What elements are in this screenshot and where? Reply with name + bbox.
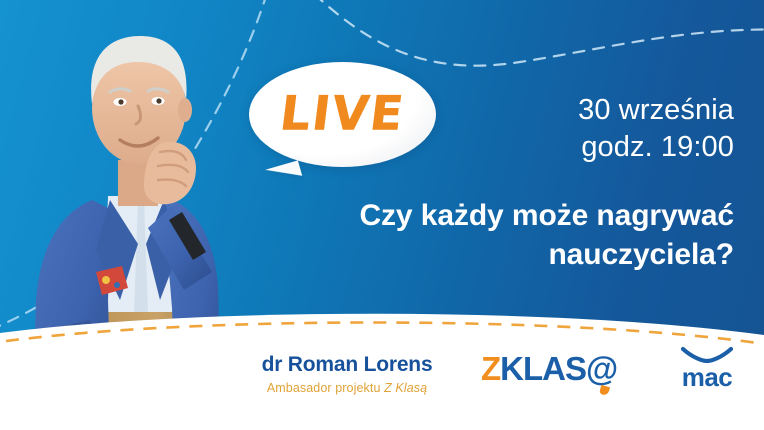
speaker-credit: dr Roman Lorens Ambasador projektu Z Kla… bbox=[232, 353, 462, 395]
pocket-square-dot bbox=[102, 276, 110, 284]
live-webinar-banner: LIVE bbox=[0, 0, 764, 430]
presenter-watch bbox=[169, 212, 206, 260]
presenter-lapel-right bbox=[146, 200, 180, 300]
presenter-forearm bbox=[148, 206, 212, 290]
presenter-pocket-square bbox=[96, 266, 128, 295]
mac-logo-text: mac bbox=[676, 364, 738, 390]
speaker-name: dr Roman Lorens bbox=[232, 353, 462, 377]
event-time: godz. 19:00 bbox=[404, 129, 734, 166]
dashed-wave-top bbox=[300, 0, 764, 66]
zklasa-logo[interactable]: ZKLAS@ bbox=[481, 350, 617, 388]
presenter-ear bbox=[178, 98, 192, 122]
speaker-role: Ambasador projektu Z Klasą bbox=[232, 381, 462, 395]
presenter-neck bbox=[118, 160, 158, 206]
presenter-lapel-left bbox=[96, 200, 138, 300]
pocket-square-dot bbox=[114, 282, 120, 288]
mac-bird-icon bbox=[681, 346, 733, 363]
presenter-nose bbox=[136, 106, 141, 124]
speaker-role-prefix: Ambasador projektu bbox=[267, 381, 384, 395]
presenter-hair bbox=[91, 36, 186, 104]
headline-line-2: nauczyciela? bbox=[304, 235, 734, 274]
zklasa-logo-text: KLAS@ bbox=[500, 350, 617, 387]
mac-logo[interactable]: mac bbox=[676, 346, 738, 390]
presenter-eye-right bbox=[152, 97, 165, 105]
presenter-brow-right bbox=[148, 89, 168, 92]
presenter-pupil-left bbox=[118, 99, 123, 104]
presenter-eye-left bbox=[114, 98, 127, 106]
presenter-hand bbox=[144, 142, 196, 205]
page-title: Czy każdy może nagrywać nauczyciela? bbox=[304, 196, 734, 274]
event-datetime: 30 września godz. 19:00 bbox=[404, 92, 734, 166]
event-date: 30 września bbox=[404, 92, 734, 129]
presenter-smile bbox=[120, 138, 158, 146]
presenter-brow-left bbox=[110, 89, 130, 92]
speech-bubble-tail-icon bbox=[250, 160, 302, 189]
presenter-pupil-right bbox=[156, 98, 161, 103]
dashed-wave-left bbox=[0, 0, 268, 330]
presenter-fingers bbox=[158, 151, 188, 186]
zklasa-logo-accent-letter: Z bbox=[481, 350, 500, 387]
headline-line-1: Czy każdy może nagrywać bbox=[304, 196, 734, 235]
presenter-head bbox=[92, 52, 186, 164]
speaker-role-project: Z Klasą bbox=[384, 381, 427, 395]
presenter-shirt bbox=[104, 196, 176, 312]
presenter-shirt-placket bbox=[134, 198, 148, 312]
